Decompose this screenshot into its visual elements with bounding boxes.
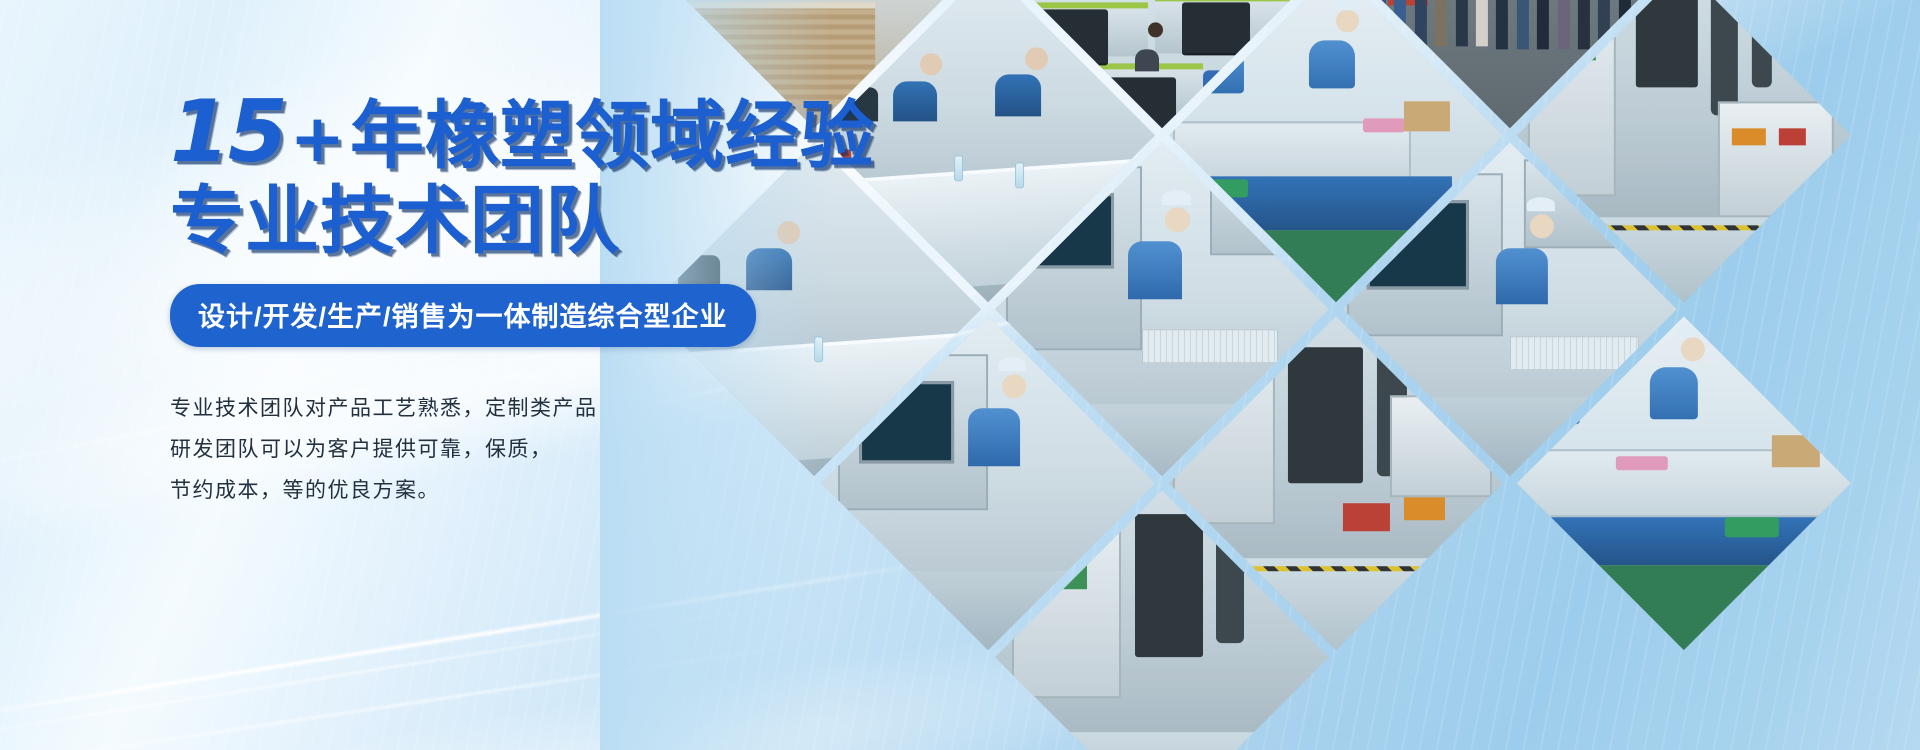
headline-line-1-suffix: 年橡塑领域经验 <box>350 93 875 179</box>
headline-line-2: 专业技术团队 <box>170 183 870 260</box>
tagline-badge: 设计/开发/生产/销售为一体制造综合型企业 <box>170 284 756 347</box>
promotional-banner: JG 厦门汉升橡塑制品有限公司 XIAMEN HANSHENG RUBBER A… <box>0 0 1920 750</box>
years-number: 15 <box>170 82 290 182</box>
headline-line-1: 15+年橡塑领域经验 <box>170 88 870 177</box>
description-line-1: 专业技术团队对产品工艺熟悉，定制类产品 <box>170 389 870 430</box>
banner-text-block: 15+年橡塑领域经验 专业技术团队 设计/开发/生产/销售为一体制造综合型企业 … <box>170 88 870 512</box>
description-paragraph: 专业技术团队对产品工艺熟悉，定制类产品 研发团队可以为客户提供可靠，保质， 节约… <box>170 389 870 512</box>
description-line-2: 研发团队可以为客户提供可靠，保质， <box>170 430 870 471</box>
description-line-3: 节约成本，等的优良方案。 <box>170 471 870 512</box>
plus-symbol: + <box>290 100 350 177</box>
